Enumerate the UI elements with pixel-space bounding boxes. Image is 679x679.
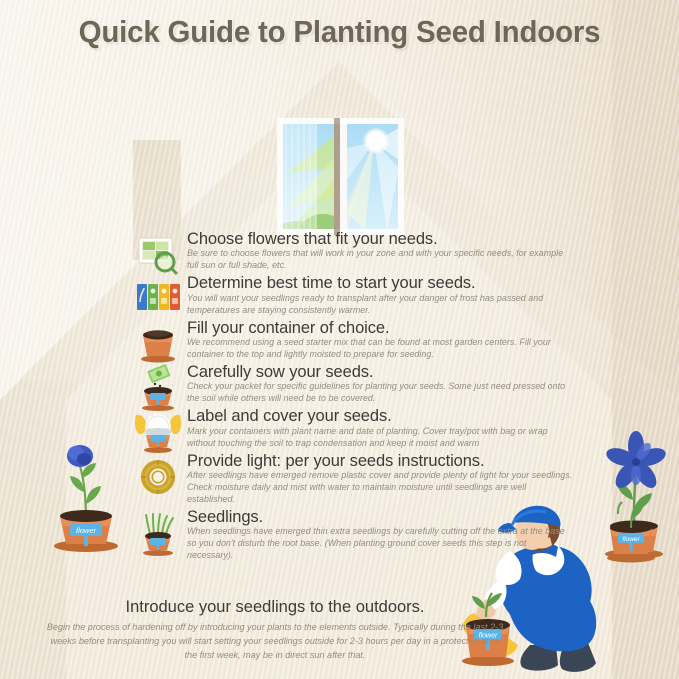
- step-item-6: Provide light: per your seeds instructio…: [135, 452, 575, 506]
- step-body: After seedlings have emerged remove plas…: [187, 470, 575, 506]
- step-item-1: Choose flowers that fit your needs. Be s…: [135, 230, 575, 272]
- step-body: Mark your containers with plant name and…: [187, 426, 575, 450]
- sun-light-icon: [135, 454, 181, 500]
- seedlings-pot-icon: [135, 510, 181, 556]
- seed-catalog-icon: [135, 232, 181, 278]
- step-body: Be sure to choose flowers that will work…: [187, 248, 575, 272]
- step-body: We recommend using a seed starter mix th…: [187, 337, 575, 361]
- window-illustration: [277, 118, 404, 235]
- step-item-5: Label and cover your seeds. Mark your co…: [135, 407, 575, 449]
- step-body: When seedlings have emerged thin extra s…: [187, 526, 575, 562]
- step-heading: Carefully sow your seeds.: [187, 363, 575, 381]
- closing-heading: Introduce your seedlings to the outdoors…: [25, 598, 525, 617]
- step-body: Check your packet for specific guideline…: [187, 381, 575, 405]
- filled-pot-icon: [135, 321, 181, 367]
- step-item-2: Determine best time to start your seeds.…: [135, 274, 575, 316]
- step-heading: Choose flowers that fit your needs.: [187, 230, 575, 248]
- step-item-7: Seedlings. When seedlings have emerged t…: [135, 508, 575, 562]
- step-heading: Determine best time to start your seeds.: [187, 274, 575, 292]
- steps-list: Choose flowers that fit your needs. Be s…: [135, 230, 575, 564]
- step-heading: Fill your container of choice.: [187, 319, 575, 337]
- infographic-canvas: flower: [0, 0, 679, 679]
- step-heading: Label and cover your seeds.: [187, 407, 575, 425]
- closing-section: Introduce your seedlings to the outdoors…: [25, 598, 525, 662]
- svg-text:flower: flower: [76, 526, 97, 535]
- sowing-seeds-icon: [135, 365, 181, 411]
- step-heading: Seedlings.: [187, 508, 575, 526]
- step-heading: Provide light: per your seeds instructio…: [187, 452, 575, 470]
- step-item-4: Carefully sow your seeds. Check your pac…: [135, 363, 575, 405]
- seed-packets-icon: [135, 276, 181, 322]
- step-body: You will want your seedlings ready to tr…: [187, 293, 575, 317]
- gloves-covered-pot-icon: [135, 409, 181, 455]
- page-title: Quick Guide to Planting Seed Indoors: [17, 14, 662, 50]
- step-item-3: Fill your container of choice. We recomm…: [135, 319, 575, 361]
- closing-body: Begin the process of hardening off by in…: [25, 620, 525, 662]
- left-potted-plant: flower: [42, 408, 128, 553]
